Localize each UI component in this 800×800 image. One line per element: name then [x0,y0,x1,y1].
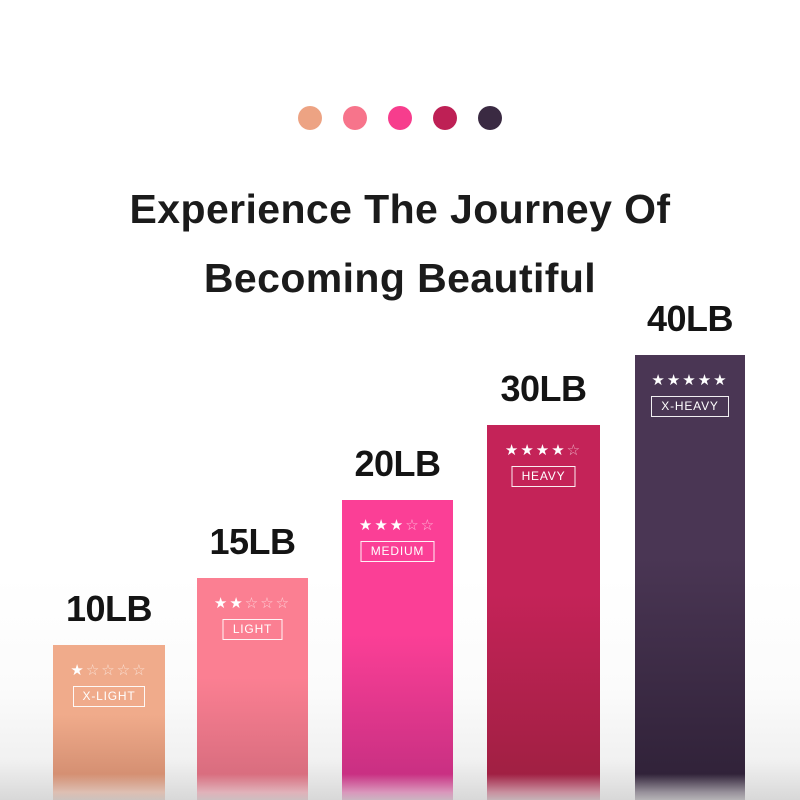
bar-10lb-weight-label: 10LB [53,588,165,630]
bar-20lb-level-chip: MEDIUM [342,541,453,562]
star-empty-icon: ☆☆ [405,517,436,534]
bar-15lb-star-rating: ★★☆☆☆ [197,596,308,612]
bar-30lb-star-rating: ★★★★☆ [487,443,600,459]
bar-10lb[interactable]: 10LB★☆☆☆☆X-LIGHT [53,588,165,800]
bar-15lb[interactable]: 15LB★★☆☆☆LIGHT [197,521,308,800]
bar-10lb-badge: ★☆☆☆☆X-LIGHT [53,663,165,707]
bar-40lb-column[interactable]: ★★★★★X-HEAVY [635,355,745,800]
bar-30lb-level-chip: HEAVY [487,466,600,487]
bar-40lb[interactable]: 40LB★★★★★X-HEAVY [635,298,745,800]
star-filled-icon: ★★ [214,595,245,612]
bar-40lb-star-rating: ★★★★★ [635,373,745,389]
bar-40lb-badge: ★★★★★X-HEAVY [635,373,745,417]
bar-30lb-weight-label: 30LB [487,368,600,410]
bar-40lb-level-chip: X-HEAVY [635,396,745,417]
bar-15lb-badge: ★★☆☆☆LIGHT [197,596,308,640]
bar-20lb-weight-label: 20LB [342,443,453,485]
bar-10lb-level-label: X-LIGHT [73,686,146,707]
bar-30lb[interactable]: 30LB★★★★☆HEAVY [487,368,600,800]
bar-20lb[interactable]: 20LB★★★☆☆MEDIUM [342,443,453,800]
bar-10lb-level-chip: X-LIGHT [53,686,165,707]
star-filled-icon: ★ [70,662,85,679]
bar-10lb-column[interactable]: ★☆☆☆☆X-LIGHT [53,645,165,800]
star-filled-icon: ★★★ [359,517,405,534]
star-empty-icon: ☆☆☆ [245,595,291,612]
bar-30lb-level-label: HEAVY [512,466,576,487]
bar-10lb-star-rating: ★☆☆☆☆ [53,663,165,679]
bar-30lb-column[interactable]: ★★★★☆HEAVY [487,425,600,800]
bar-30lb-badge: ★★★★☆HEAVY [487,443,600,487]
bar-15lb-level-chip: LIGHT [197,619,308,640]
star-filled-icon: ★★★★ [505,442,567,459]
bar-20lb-column[interactable]: ★★★☆☆MEDIUM [342,500,453,800]
resistance-bar-chart: 10LB★☆☆☆☆X-LIGHT15LB★★☆☆☆LIGHT20LB★★★☆☆M… [0,0,800,800]
bar-20lb-star-rating: ★★★☆☆ [342,518,453,534]
bar-15lb-column[interactable]: ★★☆☆☆LIGHT [197,578,308,800]
bar-40lb-weight-label: 40LB [635,298,745,340]
bar-15lb-weight-label: 15LB [197,521,308,563]
star-filled-icon: ★★★★★ [651,372,728,389]
bar-20lb-badge: ★★★☆☆MEDIUM [342,518,453,562]
bar-40lb-level-label: X-HEAVY [651,396,728,417]
bar-15lb-level-label: LIGHT [223,619,282,640]
star-empty-icon: ☆ [567,442,582,459]
poster-canvas: Experience The Journey Of Becoming Beaut… [0,0,800,800]
bar-20lb-level-label: MEDIUM [361,541,434,562]
star-empty-icon: ☆☆☆☆ [86,662,148,679]
